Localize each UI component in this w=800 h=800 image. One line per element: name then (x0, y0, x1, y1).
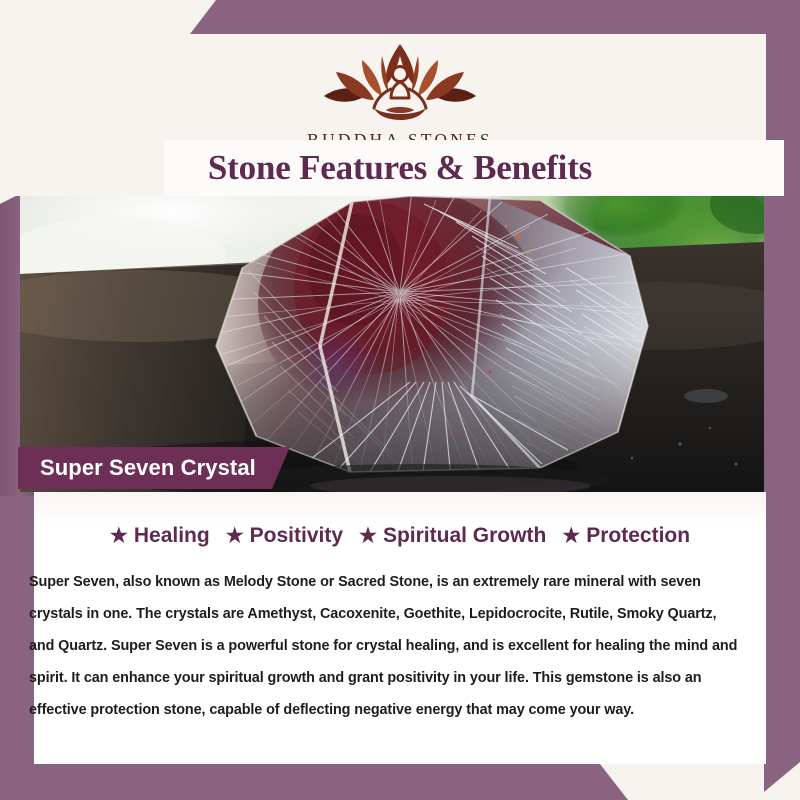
benefit-label: Healing (134, 524, 210, 548)
star-icon: ★ (110, 526, 128, 546)
benefit-item-protection: ★ Protection (562, 524, 690, 548)
benefit-item-healing: ★ Healing (110, 524, 210, 548)
frame-bottom-bar (0, 764, 800, 800)
caption-label: Super Seven Crystal (40, 455, 256, 481)
brand-logo: BUDDHA STONES (34, 28, 766, 151)
page-title: Stone Features & Benefits (34, 140, 766, 196)
star-icon: ★ (226, 526, 244, 546)
description-paragraph: Super Seven, also known as Melody Stone … (29, 566, 741, 726)
star-icon: ★ (562, 526, 580, 546)
benefit-label: Spiritual Growth (383, 524, 546, 548)
benefit-item-spiritual-growth: ★ Spiritual Growth (359, 524, 546, 548)
infographic-card: BUDDHA STONES Stone Features & Benefits (0, 0, 800, 800)
benefits-row: ★ Healing ★ Positivity ★ Spiritual Growt… (34, 524, 766, 548)
lotus-meditation-icon (312, 42, 488, 128)
frame-right-bar (764, 0, 800, 800)
star-icon: ★ (359, 526, 377, 546)
status-badge: Super Seven Crystal (18, 447, 290, 489)
benefit-label: Protection (586, 524, 690, 548)
benefit-item-positivity: ★ Positivity (226, 524, 343, 548)
benefit-label: Positivity (250, 524, 343, 548)
